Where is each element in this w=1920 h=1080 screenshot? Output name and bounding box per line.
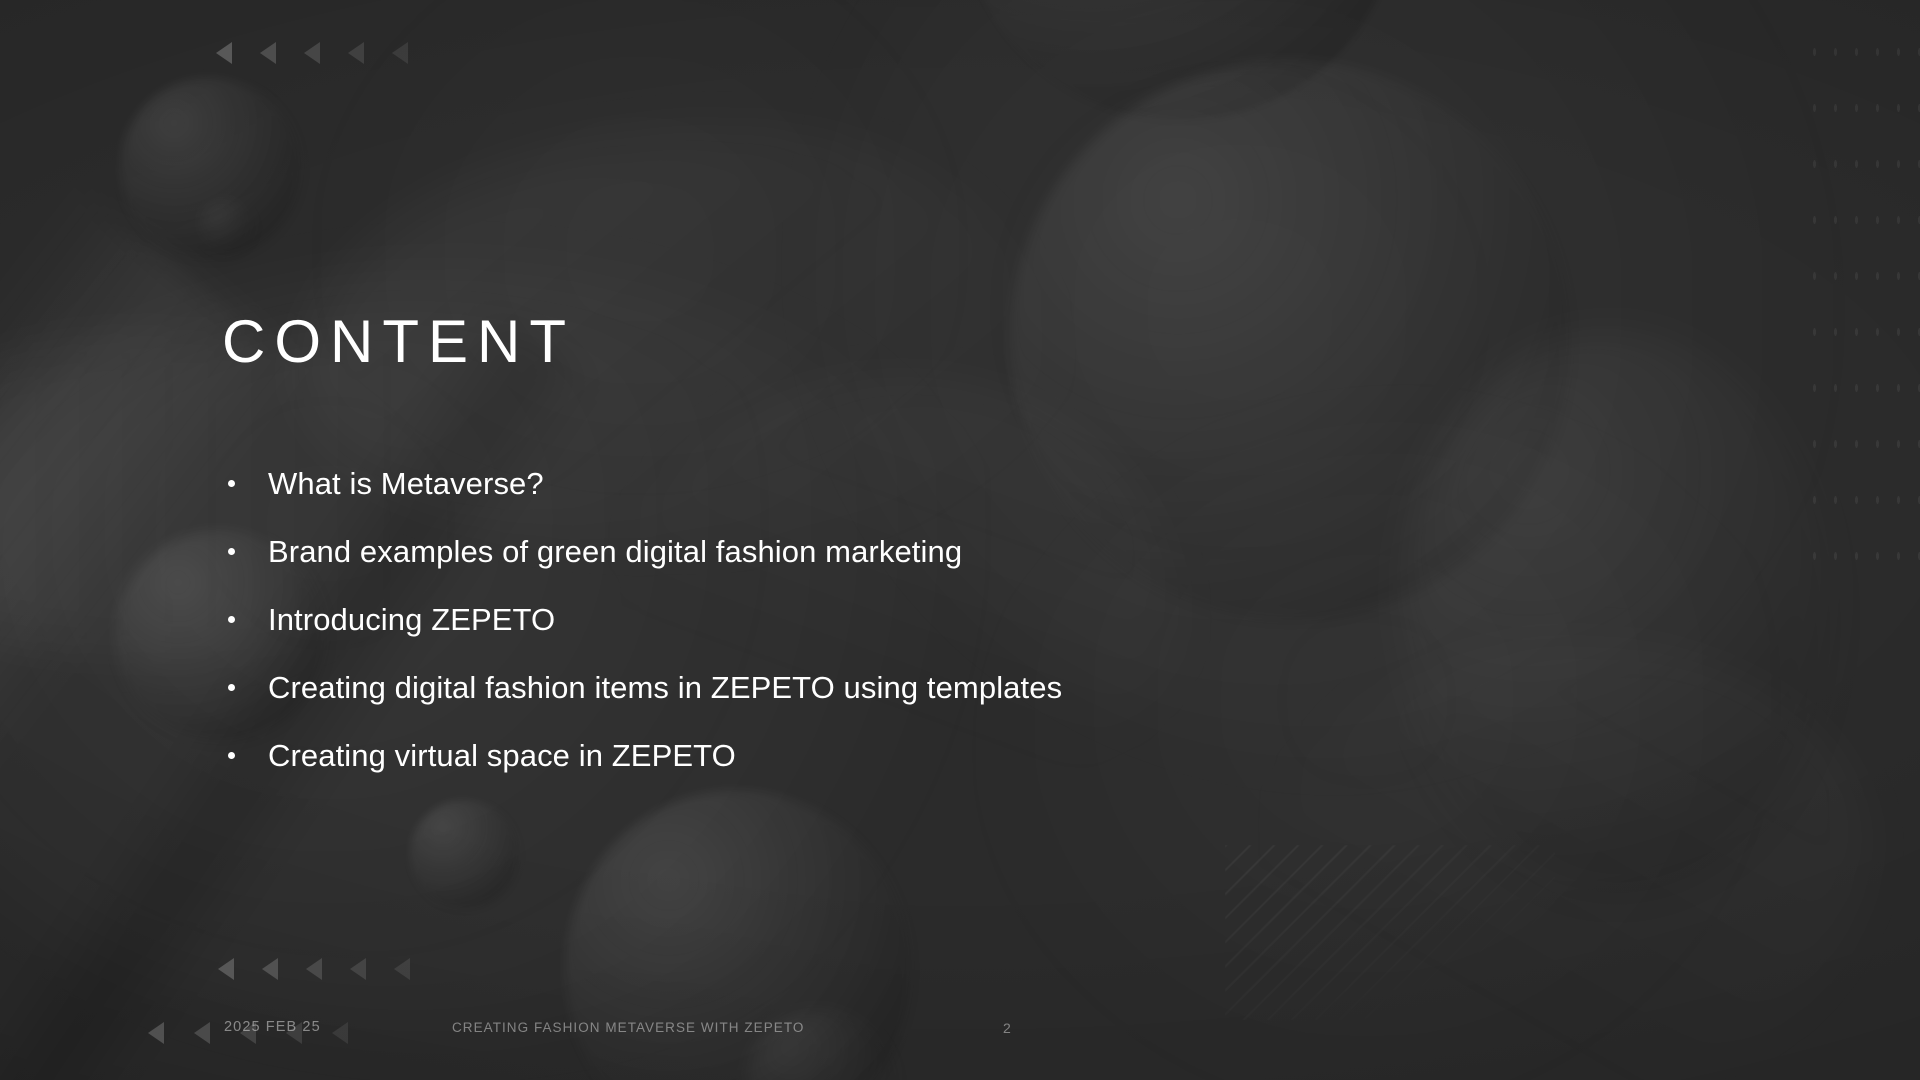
list-item-label: Creating virtual space in ZEPETO	[268, 738, 736, 774]
list-item-label: Creating digital fashion items in ZEPETO…	[268, 670, 1062, 706]
bullet-dot-icon	[228, 752, 235, 759]
page-title: CONTENT	[222, 312, 575, 372]
slide-content: CONTENT What is Metaverse? Brand example…	[0, 0, 1920, 1080]
bullet-dot-icon	[228, 616, 235, 623]
content-bullet-list: What is Metaverse? Brand examples of gre…	[228, 466, 1062, 806]
footer-deck-title: CREATING FASHION METAVERSE WITH ZEPETO	[452, 1020, 804, 1035]
list-item: What is Metaverse?	[228, 466, 1062, 534]
bullet-dot-icon	[228, 684, 235, 691]
list-item: Creating virtual space in ZEPETO	[228, 738, 1062, 806]
list-item: Introducing ZEPETO	[228, 602, 1062, 670]
list-item-label: Introducing ZEPETO	[268, 602, 555, 638]
footer-date: 2025 FEB 25	[224, 1019, 321, 1035]
list-item: Creating digital fashion items in ZEPETO…	[228, 670, 1062, 738]
footer-page-number: 2	[1003, 1020, 1011, 1036]
list-item-label: Brand examples of green digital fashion …	[268, 534, 962, 570]
bullet-dot-icon	[228, 548, 235, 555]
presentation-slide: CONTENT What is Metaverse? Brand example…	[0, 0, 1920, 1080]
list-item: Brand examples of green digital fashion …	[228, 534, 1062, 602]
bullet-dot-icon	[228, 480, 235, 487]
list-item-label: What is Metaverse?	[268, 466, 544, 502]
